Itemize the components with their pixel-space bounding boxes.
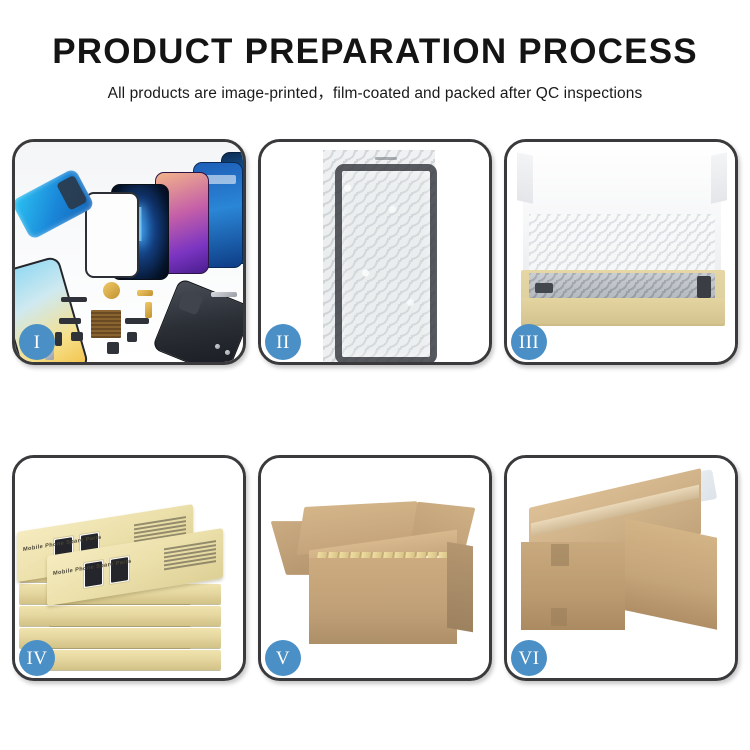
phone-teardown-icon: [152, 278, 243, 362]
page-title: PRODUCT PREPARATION PROCESS: [0, 34, 750, 71]
step-panel-1: I: [12, 139, 246, 365]
carton-front: [521, 542, 625, 630]
box-slab: [49, 606, 221, 626]
step-badge-5: V: [265, 640, 301, 676]
box-front-icon: [521, 298, 725, 324]
carton-side: [447, 542, 473, 633]
phone-glass-icon: [335, 164, 437, 362]
step-panel-4: Mobile Phone Spare Parts Mobile Phone Sp…: [12, 455, 246, 681]
foam-padding-icon: [529, 214, 715, 276]
product-preparation-infographic: PRODUCT PREPARATION PROCESS All products…: [0, 0, 750, 750]
wrapped-part-icon: [529, 273, 715, 301]
carton-side-right: [625, 518, 717, 630]
box-spec-lines: [164, 540, 216, 573]
screw-icon: [215, 344, 220, 349]
carton-seam-top: [551, 544, 569, 566]
flex-cable-icon: [61, 297, 87, 302]
step-badge-3: III: [511, 324, 547, 360]
step-badge-6: VI: [511, 640, 547, 676]
carton-seam-bottom: [551, 608, 567, 626]
ic-chip-icon: [71, 332, 83, 341]
tool-icon: [211, 292, 237, 297]
step-badge-1: I: [19, 324, 55, 360]
vibrator-icon: [107, 342, 119, 354]
screw-icon: [225, 350, 230, 355]
header: PRODUCT PREPARATION PROCESS All products…: [0, 0, 750, 103]
steps-grid: I II III: [12, 139, 738, 681]
step-panel-3: III: [504, 139, 738, 365]
step-badge-2: II: [265, 324, 301, 360]
step-badge-4: IV: [19, 640, 55, 676]
step-panel-5: V: [258, 455, 492, 681]
step-panel-2: II: [258, 139, 492, 365]
carton-body: [309, 558, 457, 644]
connector-icon: [59, 318, 81, 324]
adhesive-sticker-icon: [15, 168, 95, 241]
ribbon-cable-icon: [125, 318, 149, 324]
bracket-part-icon: [137, 290, 153, 296]
step-panel-6: VI: [504, 455, 738, 681]
button-flex-icon: [145, 302, 152, 318]
phone-white-icon: [85, 192, 139, 278]
box-slab: [49, 628, 221, 648]
small-part-icon: [55, 332, 62, 346]
speaker-part-icon: [103, 282, 120, 299]
box-slab: [49, 650, 221, 670]
camera-module-icon: [127, 332, 137, 342]
bubble-wrap-icon: [323, 150, 435, 362]
page-subtitle: All products are image-printed，film-coat…: [0, 81, 750, 103]
chip-array-icon: [91, 310, 121, 338]
